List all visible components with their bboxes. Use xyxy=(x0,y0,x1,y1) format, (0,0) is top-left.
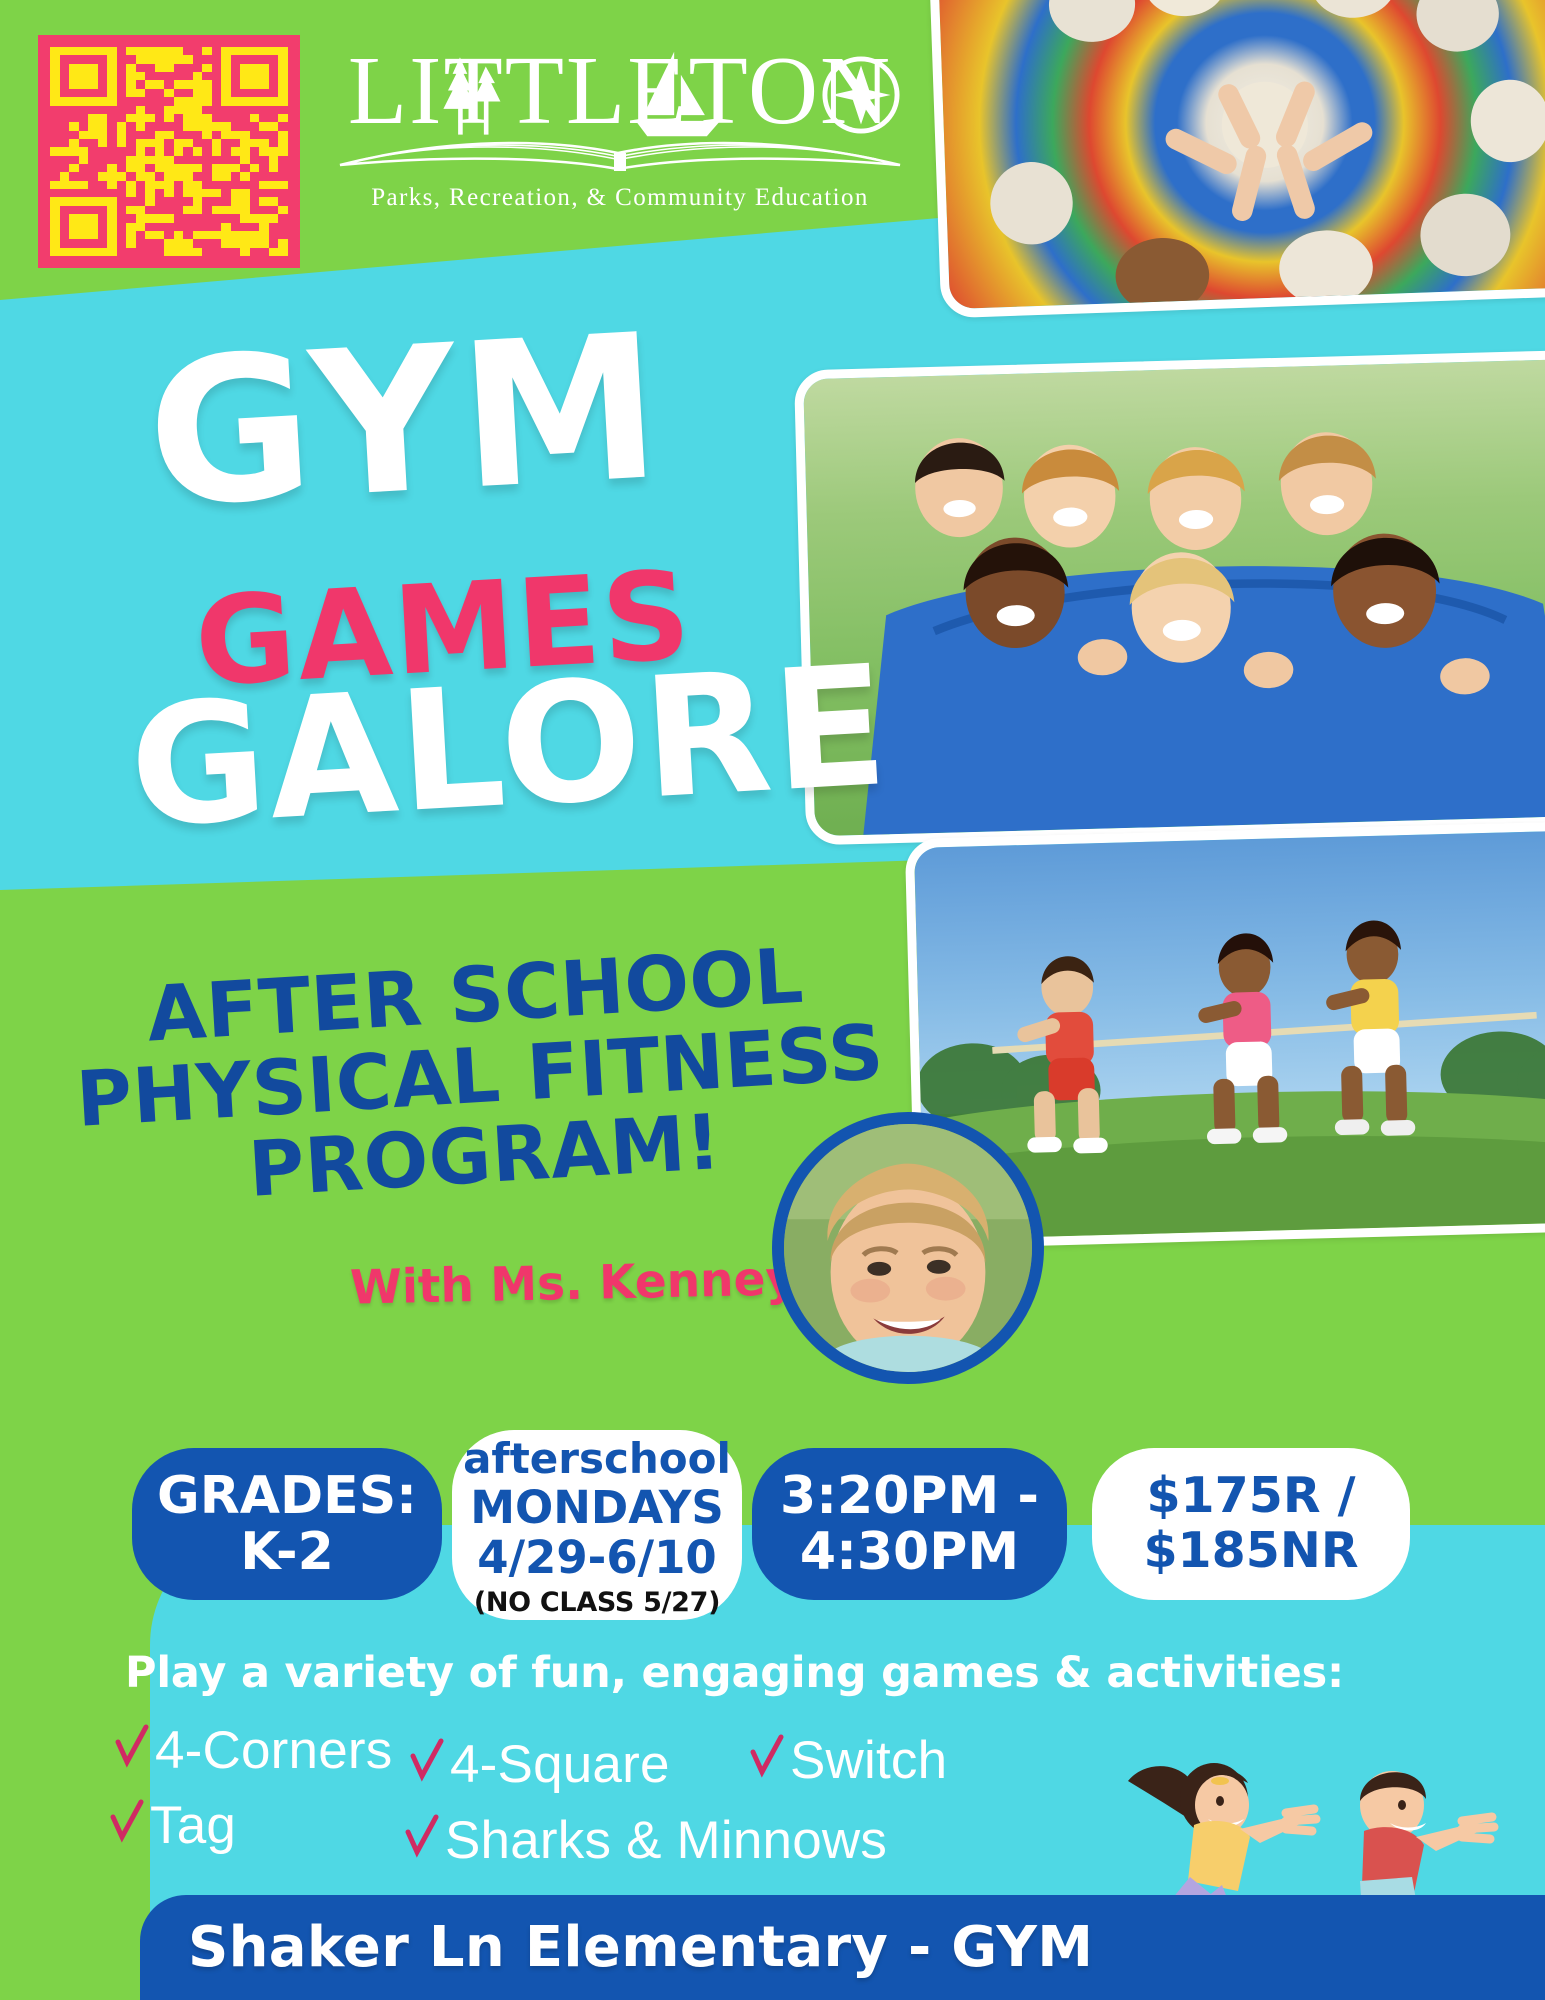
flyer-root: LITTLETON Parks, Recreation, & Com xyxy=(0,0,1545,2000)
activity-item-tag: Tag xyxy=(110,1795,236,1856)
activity-item-4-square: 4-Square xyxy=(410,1734,670,1795)
activity-label: Sharks & Minnows xyxy=(445,1810,887,1871)
logo-tagline: Parks, Recreation, & Community Education xyxy=(330,184,910,212)
check-icon xyxy=(110,1799,144,1843)
check-icon xyxy=(410,1738,444,1782)
logo-wordmark: LITTLETON xyxy=(330,42,910,139)
check-icon xyxy=(750,1734,784,1778)
activity-label: 4-Square xyxy=(450,1734,670,1795)
activity-label: Switch xyxy=(790,1730,947,1791)
pill-price-line-2: $185NR xyxy=(1143,1524,1358,1579)
pill-time-line-1: 3:20PM - xyxy=(780,1468,1039,1524)
sailboat-icon xyxy=(630,46,726,142)
activity-item-4-corners: 4-Corners xyxy=(115,1720,392,1781)
parachute-kids-photo xyxy=(929,0,1545,318)
pill-grades: GRADES: K-2 xyxy=(132,1448,442,1600)
location-banner-text: Shaker Ln Elementary - GYM xyxy=(188,1915,1093,1980)
pill-grades-line-1: GRADES: xyxy=(157,1468,417,1524)
pill-time: 3:20PM - 4:30PM xyxy=(752,1448,1067,1600)
pill-dates-line-3: 4/29-6/10 xyxy=(477,1533,716,1584)
pill-time-line-2: 4:30PM xyxy=(800,1524,1019,1580)
littleton-logo: LITTLETON Parks, Recreation, & Com xyxy=(330,42,910,212)
activities-heading: Play a variety of fun, engaging games & … xyxy=(125,1648,1344,1698)
qr-code-pattern xyxy=(50,47,288,256)
activity-label: Tag xyxy=(150,1795,236,1856)
location-banner: Shaker Ln Elementary - GYM xyxy=(140,1895,1545,2000)
title-gym: GYM xyxy=(143,316,668,528)
instructor-headshot xyxy=(772,1112,1044,1384)
pine-trees-icon xyxy=(425,50,517,142)
pill-dates-line-2: MONDAYS xyxy=(470,1483,724,1534)
title-galore: GALORE xyxy=(126,644,893,852)
qr-code[interactable] xyxy=(38,35,300,268)
kids-blanket-photo xyxy=(794,350,1545,846)
pill-dates-note: (NO CLASS 5/27) xyxy=(474,1588,720,1619)
pill-price: $175R / $185NR xyxy=(1092,1448,1410,1600)
pill-dates: afterschool MONDAYS 4/29-6/10 (NO CLASS … xyxy=(452,1430,742,1620)
check-icon xyxy=(405,1814,439,1858)
activity-label: 4-Corners xyxy=(155,1720,392,1781)
info-pills-row: GRADES: K-2 afterschool MONDAYS 4/29-6/1… xyxy=(0,1440,1545,1620)
pill-grades-line-2: K-2 xyxy=(240,1524,334,1580)
kids-blanket-photo-image xyxy=(803,359,1545,836)
activity-item-sharks-and-minnows: Sharks & Minnows xyxy=(405,1810,887,1871)
activity-item-switch: Switch xyxy=(750,1730,947,1791)
parachute-kids-photo-image xyxy=(938,0,1545,309)
pill-dates-line-1: afterschool xyxy=(463,1435,731,1482)
compass-icon xyxy=(820,54,902,136)
pill-price-line-1: $175R / xyxy=(1146,1469,1355,1524)
check-icon xyxy=(115,1724,149,1768)
instructor-name: With Ms. Kenney xyxy=(349,1251,796,1315)
